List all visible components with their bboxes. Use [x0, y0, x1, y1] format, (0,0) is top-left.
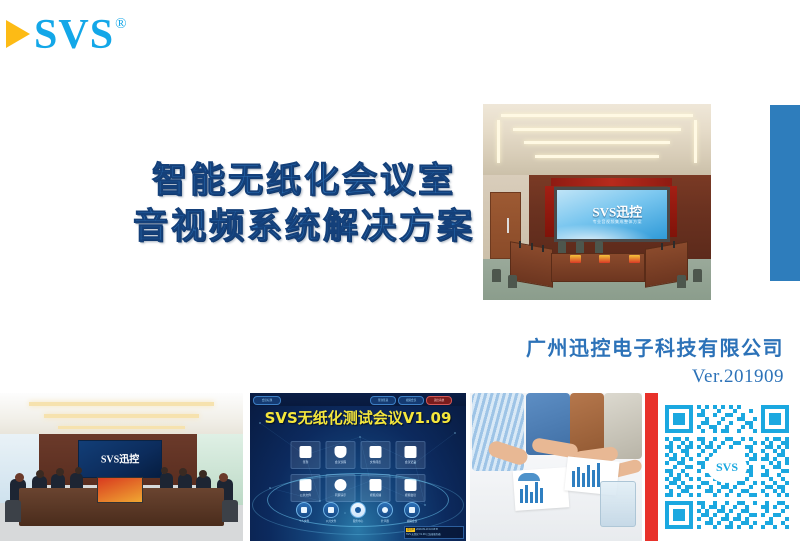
microphone [661, 243, 663, 250]
ceiling-light [513, 128, 682, 131]
app-tile-label: 会议议程 [335, 460, 346, 464]
company-name: 广州迅控电子科技有限公司 [0, 332, 784, 361]
title-line-1: 智能无纸化会议室 [118, 158, 490, 204]
ceiling-light [694, 120, 697, 163]
door-handle [507, 218, 509, 234]
dock-item-service-center[interactable]: 服务中心 [350, 502, 366, 524]
app-tile-minutes[interactable]: 会议记录 [396, 441, 426, 469]
ceiling-light [535, 155, 658, 158]
dock-item-label: 公共文件 [326, 519, 336, 523]
app-tile-label: 签到 [303, 460, 309, 464]
version-label: Ver.201909 [0, 366, 784, 388]
title-line-2: 音视频系统解决方案 [118, 204, 490, 250]
strip-panel-software-ui: 会议标题 签到签退 视频会议 退出系统 SVS无纸化测试会议V1.09 签到 [250, 393, 466, 541]
display-terminal [97, 477, 143, 503]
chart-bar [587, 465, 590, 487]
strip-panel-conference-room: SVS迅控 [0, 393, 243, 541]
led-display-screen: SVS迅控 专业音视频集成整体方案 [554, 187, 670, 242]
status-timestamp: 2019-09-19 10:08:53 [416, 528, 438, 532]
qr-center-logo: SVS [707, 451, 747, 483]
service-icon [350, 502, 366, 518]
sound-icon [377, 502, 393, 518]
qr-logo-text: SVS [716, 460, 738, 475]
chart-bar [577, 467, 580, 487]
chair [595, 241, 603, 253]
chair [492, 269, 501, 282]
table-decoration [570, 255, 581, 263]
chair [508, 275, 517, 288]
dock-item-sound[interactable]: 扩声器 [377, 502, 393, 524]
play-triangle-icon [6, 20, 30, 48]
dock-item-personal-files[interactable]: 个人文件 [296, 502, 312, 524]
right-accent-bar [770, 105, 800, 281]
chair [693, 269, 702, 282]
public-file-icon [323, 502, 339, 518]
app-dock: 个人文件 公共文件 服务中心 扩声器 视频会议 [296, 502, 420, 524]
screen-logo-text: SVS迅控 [592, 201, 642, 220]
video-meeting-pill[interactable]: 视频会议 [398, 396, 424, 405]
dock-item-label: 视频会议 [407, 519, 417, 523]
signin-pill[interactable]: 签到签退 [370, 396, 396, 405]
cove-light [58, 426, 184, 429]
led-display-screen: SVS迅控 [78, 440, 163, 478]
chair [576, 241, 584, 253]
meeting-title-pill[interactable]: 会议标题 [253, 396, 281, 405]
microphone [542, 245, 544, 252]
folder-search-icon [370, 446, 382, 458]
chair [5, 500, 21, 522]
chair [222, 500, 238, 522]
exit-system-pill[interactable]: 退出系统 [426, 396, 452, 405]
svs-logo: SVS ® [6, 12, 125, 56]
screen-logo-text: SVS迅控 [101, 450, 139, 465]
cove-light [44, 414, 200, 418]
status-connection: SVS 无纸化 V1.09 已连接服务器 [406, 533, 441, 537]
user-file-icon [296, 502, 312, 518]
chart-pie [518, 473, 540, 481]
app-tile-file-viewer[interactable]: 文件阅览 [361, 441, 391, 469]
attendee-head [199, 470, 207, 478]
document-icon [335, 446, 347, 458]
red-banner [551, 178, 672, 186]
chart-bar [592, 470, 595, 487]
chart-bar [535, 482, 538, 503]
chart-bar [520, 489, 523, 503]
video-conf-icon [404, 502, 420, 518]
registered-trademark-icon: ® [115, 16, 126, 33]
note-icon [405, 446, 417, 458]
dock-item-label: 扩声器 [381, 519, 389, 523]
dock-item-public-files[interactable]: 公共文件 [323, 502, 339, 524]
microphone [673, 241, 675, 248]
app-tile-label: 会议记录 [405, 460, 416, 464]
microphone [531, 243, 533, 250]
clipboard-icon [300, 446, 312, 458]
chart-bar [525, 485, 528, 503]
table-decoration [629, 255, 640, 263]
chart-bar [540, 488, 543, 503]
attendee-head [161, 467, 168, 474]
red-banner-side [545, 186, 554, 237]
dock-item-video-conference[interactable]: 视频会议 [404, 502, 420, 524]
slide-title: 智能无纸化会议室 音视频系统解决方案 [118, 158, 490, 250]
app-tile-label: 文件阅览 [370, 460, 381, 464]
app-title: SVS无纸化测试会议V1.09 [250, 407, 466, 428]
chart-bar [572, 471, 575, 487]
microphone [519, 241, 521, 248]
app-tile-agenda[interactable]: 会议议程 [326, 441, 356, 469]
water-glass [600, 481, 636, 527]
hero-conference-room-photo: SVS迅控 专业音视频集成整体方案 [483, 104, 711, 300]
ceiling-light [497, 120, 500, 163]
qr-code: SVS [661, 401, 793, 533]
presentation-slide: SVS ® SVS迅控 专业音视频集成整体方案 [0, 0, 800, 541]
strip-panel-team-charts [470, 393, 642, 541]
bottom-image-strip: SVS迅控 [0, 393, 800, 541]
ceiling-light [501, 114, 693, 117]
status-badge: 会议中 [406, 528, 415, 532]
app-top-bar: 会议标题 签到签退 视频会议 退出系统 [250, 393, 466, 406]
chair [677, 275, 686, 288]
chart-bar [530, 492, 533, 503]
logo-wordmark: SVS [34, 14, 114, 56]
chair [558, 241, 566, 253]
cove-light [29, 402, 214, 406]
app-status-bar: 会议中 2019-09-19 10:08:53 SVS 无纸化 V1.09 已连… [404, 526, 464, 539]
chart-bar [582, 473, 585, 487]
attendee-head [15, 473, 24, 482]
app-tile-signin[interactable]: 签到 [291, 441, 321, 469]
ceiling-light [524, 141, 670, 144]
dock-item-label: 个人文件 [299, 519, 309, 523]
dock-item-label: 服务中心 [353, 519, 363, 523]
screen-subtitle-text: 专业音视频集成整体方案 [593, 219, 643, 225]
red-divider-bar [645, 393, 658, 541]
table-decoration [599, 255, 610, 263]
